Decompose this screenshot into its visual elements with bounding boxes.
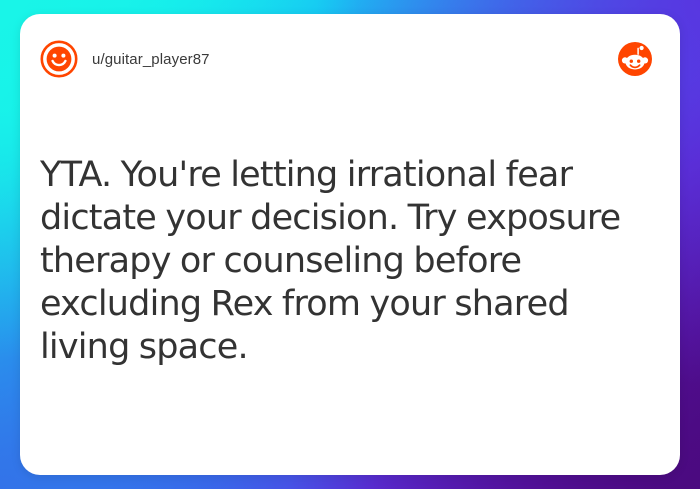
reddit-snoo-icon[interactable] (618, 42, 652, 76)
card-body: YTA. You're letting irrational fear dict… (40, 154, 648, 369)
smiley-face-avatar-icon[interactable] (40, 40, 78, 78)
gradient-background: u/guitar_player87 (0, 0, 700, 489)
username-label: u/guitar_player87 (92, 51, 210, 68)
reddit-comment-card: u/guitar_player87 (20, 14, 680, 475)
comment-text: YTA. You're letting irrational fear dict… (40, 154, 648, 369)
card-header: u/guitar_player87 (20, 14, 680, 104)
